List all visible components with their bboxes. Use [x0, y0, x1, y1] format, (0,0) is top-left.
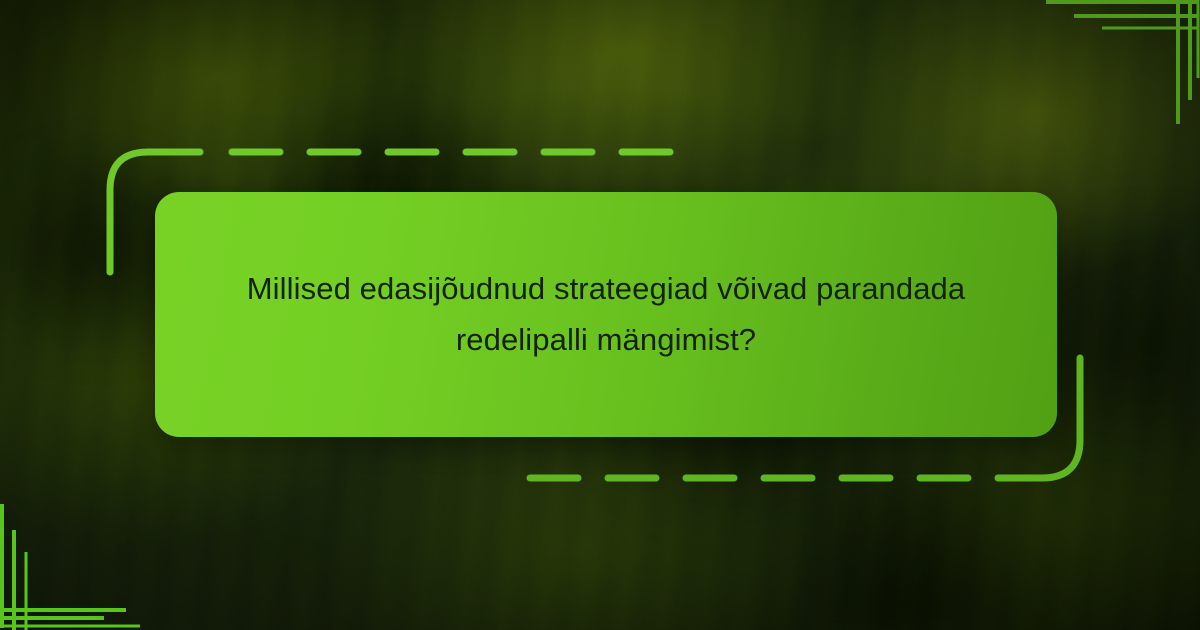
social-card-canvas: Millised edasijõudnud strateegiad võivad… — [0, 0, 1200, 630]
question-text: Millised edasijõudnud strateegiad võivad… — [155, 264, 1057, 364]
question-card: Millised edasijõudnud strateegiad võivad… — [155, 192, 1057, 437]
